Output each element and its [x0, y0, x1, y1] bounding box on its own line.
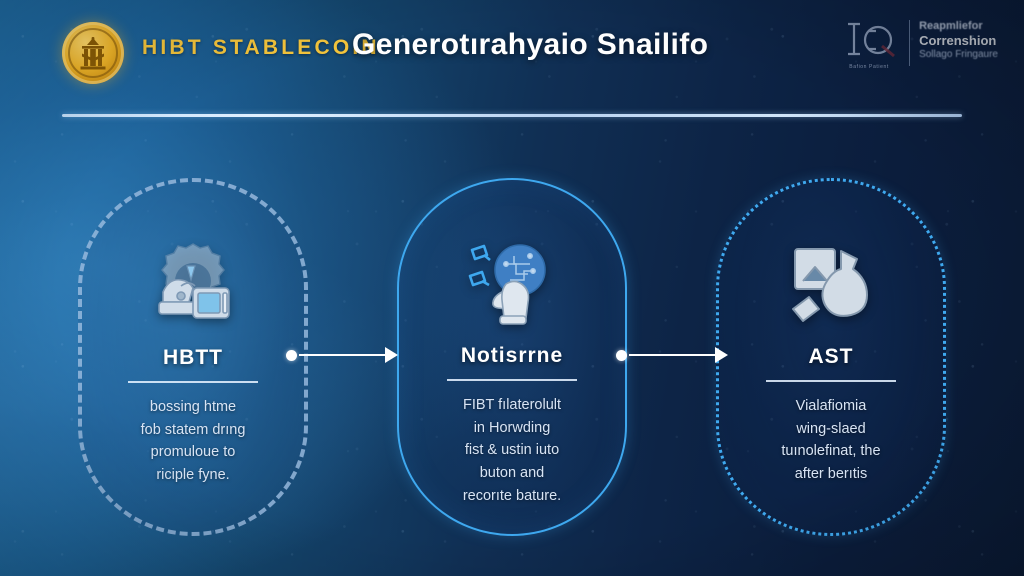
hand-holding-circuit-sphere-icon — [460, 232, 564, 336]
card-title-rule — [766, 380, 896, 382]
card-body-line: fob statem drıng — [97, 419, 289, 442]
card-body-line: after berıtis — [735, 463, 927, 486]
card-body-line: bossing htme — [97, 396, 289, 419]
card-body-line: riciple fyne. — [97, 464, 289, 487]
connector-dot — [286, 350, 297, 361]
card-title-rule — [447, 379, 577, 381]
connector-dot — [616, 350, 627, 361]
card-body-line: fist & ustin iuto — [416, 439, 608, 462]
card-body-line: FIBT fılaterolult — [416, 394, 608, 417]
gear-machine-monitor-icon — [141, 234, 245, 338]
step-card-notisrrne[interactable]: Notisrrne FIBT fılaterolult in Horwding … — [397, 178, 627, 536]
card-body-text: Vialafiomia wing-slaed tuınolefinat, the… — [735, 395, 927, 487]
card-body-text: FIBT fılaterolult in Horwding fist & ust… — [416, 394, 608, 509]
card-title: Notisrrne — [461, 344, 563, 368]
arrow-head-icon — [715, 347, 728, 363]
arrow-card1-to-card2 — [286, 340, 398, 370]
connector-line — [629, 354, 716, 356]
card-body-line: in Horwding — [416, 417, 608, 440]
card-row: HBTT bossing htme fob statem drıng promu… — [0, 0, 1024, 576]
card-body-text: bossing htme fob statem drıng promuloue … — [97, 396, 289, 488]
card-body-line: tuınolefinat, the — [735, 440, 927, 463]
card-body-line: buton and — [416, 462, 608, 485]
card-title-rule — [128, 381, 258, 383]
step-card-ast[interactable]: AST Vialafiomia wing-slaed tuınolefinat,… — [716, 178, 946, 536]
card-body-line: recorıte bature. — [416, 485, 608, 508]
card-body-line: wing-slaed — [735, 418, 927, 441]
shield-flask-badge-icon — [779, 233, 883, 337]
card-title: HBTT — [163, 346, 223, 370]
arrow-card2-to-card3 — [616, 340, 728, 370]
card-title: AST — [809, 345, 854, 369]
card-body-line: Vialafiomia — [735, 395, 927, 418]
arrow-head-icon — [385, 347, 398, 363]
step-card-hbtt[interactable]: HBTT bossing htme fob statem drıng promu… — [78, 178, 308, 536]
card-body-line: promuloue to — [97, 441, 289, 464]
slide-canvas: HIBT STABLECOIN Generotırahyaio Snailifo… — [0, 0, 1024, 576]
connector-line — [299, 354, 386, 356]
